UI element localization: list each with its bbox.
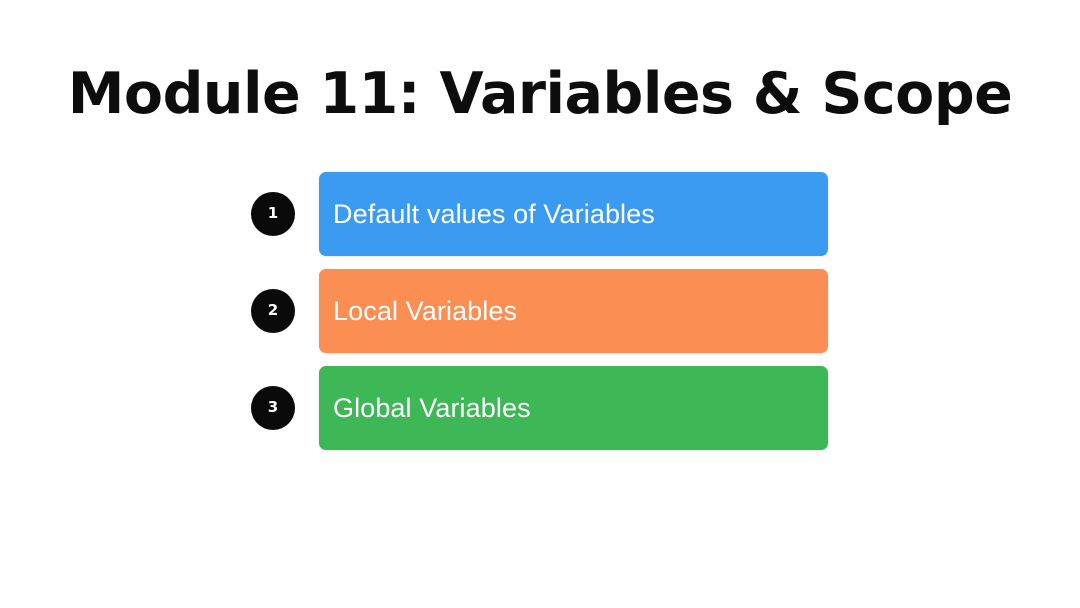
item-bar-3[interactable]: Global Variables bbox=[319, 366, 828, 450]
item-number-badge-3: 3 bbox=[251, 386, 295, 430]
agenda-list: 1 Default values of Variables 2 Local Va… bbox=[251, 172, 831, 450]
list-item[interactable]: 3 Global Variables bbox=[251, 366, 831, 450]
item-bar-1[interactable]: Default values of Variables bbox=[319, 172, 828, 256]
item-bar-2[interactable]: Local Variables bbox=[319, 269, 828, 353]
item-label-1: Default values of Variables bbox=[333, 201, 655, 228]
item-label-2: Local Variables bbox=[333, 298, 517, 325]
list-item[interactable]: 1 Default values of Variables bbox=[251, 172, 831, 256]
list-item[interactable]: 2 Local Variables bbox=[251, 269, 831, 353]
item-label-3: Global Variables bbox=[333, 395, 531, 422]
item-number-badge-1: 1 bbox=[251, 192, 295, 236]
page-title: Module 11: Variables & Scope bbox=[0, 62, 1080, 128]
item-number-badge-2: 2 bbox=[251, 289, 295, 333]
slide-canvas: Module 11: Variables & Scope 1 Default v… bbox=[0, 0, 1080, 608]
